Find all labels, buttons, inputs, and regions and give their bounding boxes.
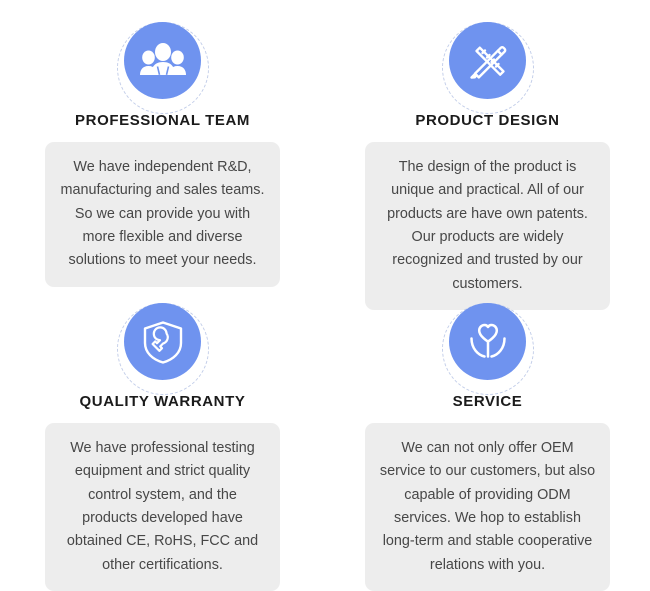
feature-description: We have professional testing equipment a… — [45, 423, 280, 591]
feature-card-professional-team: PROFESSIONAL TEAM We have independent R&… — [0, 0, 325, 281]
icon-badge-professional-team — [117, 22, 209, 99]
icon-badge-product-design — [442, 22, 534, 99]
feature-description: We have independent R&D, manufacturing a… — [45, 142, 280, 287]
features-grid: PROFESSIONAL TEAM We have independent R&… — [0, 0, 650, 562]
people-group-icon — [140, 41, 186, 81]
icon-disc — [124, 303, 201, 380]
pencil-ruler-icon — [466, 39, 510, 83]
icon-badge-quality-warranty — [117, 303, 209, 380]
feature-description: We can not only offer OEM service to our… — [365, 423, 610, 591]
feature-title: PRODUCT DESIGN — [415, 113, 559, 128]
feature-card-quality-warranty: QUALITY WARRANTY We have professional te… — [0, 281, 325, 562]
icon-badge-service — [442, 303, 534, 380]
feature-card-service: SERVICE We can not only offer OEM servic… — [325, 281, 650, 562]
shield-wrench-icon — [142, 320, 184, 364]
icon-disc — [449, 303, 526, 380]
feature-title: SERVICE — [453, 394, 523, 409]
feature-title: QUALITY WARRANTY — [80, 394, 246, 409]
feature-card-product-design: PRODUCT DESIGN The design of the product… — [325, 0, 650, 281]
heart-in-hands-icon — [466, 321, 510, 363]
icon-disc — [449, 22, 526, 99]
icon-disc — [124, 22, 201, 99]
feature-title: PROFESSIONAL TEAM — [75, 113, 250, 128]
